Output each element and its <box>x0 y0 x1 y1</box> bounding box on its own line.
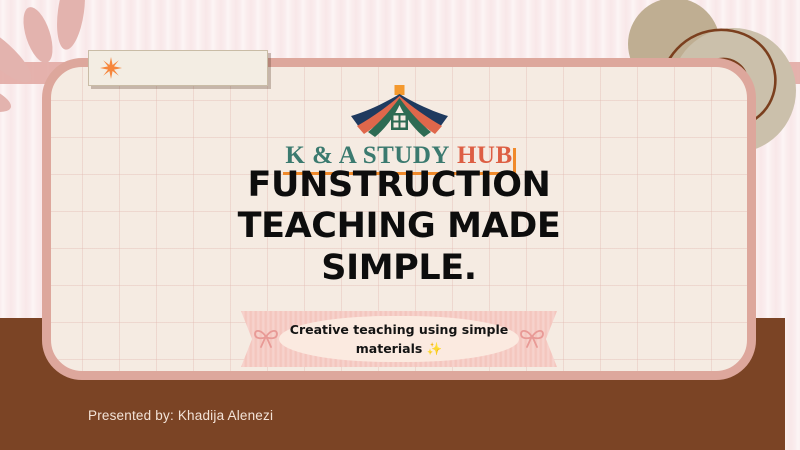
presenter-credit: Presented by: Khadija Alenezi <box>88 408 273 423</box>
tent-roof-icon <box>337 85 462 145</box>
presentation-slide: K & A STUDY HUB FUNSTRUCTION TEACHING MA… <box>0 0 800 450</box>
subtitle-line-2: materials ✨ <box>356 339 442 358</box>
brand-logo: K & A STUDY HUB <box>51 85 747 170</box>
subtitle-line-1: Creative teaching using simple <box>290 320 508 339</box>
page-title: FUNSTRUCTION TEACHING MADE SIMPLE. <box>51 165 747 289</box>
subtitle-ribbon: Creative teaching using simple materials… <box>241 311 557 367</box>
frame-content: K & A STUDY HUB FUNSTRUCTION TEACHING MA… <box>51 67 747 371</box>
title-line-2: TEACHING MADE <box>51 206 747 247</box>
bow-icon <box>519 326 545 348</box>
sparkle-label-box[interactable] <box>88 50 268 86</box>
subtitle-text: Creative teaching using simple materials… <box>241 311 557 367</box>
bow-icon <box>253 326 279 348</box>
content-frame: K & A STUDY HUB FUNSTRUCTION TEACHING MA… <box>42 58 756 380</box>
title-line-1: FUNSTRUCTION <box>51 165 747 206</box>
petal-shape <box>18 4 59 67</box>
petal-shape <box>53 0 90 51</box>
title-line-3: SIMPLE. <box>51 248 747 289</box>
sparkle-star-icon <box>100 57 122 79</box>
